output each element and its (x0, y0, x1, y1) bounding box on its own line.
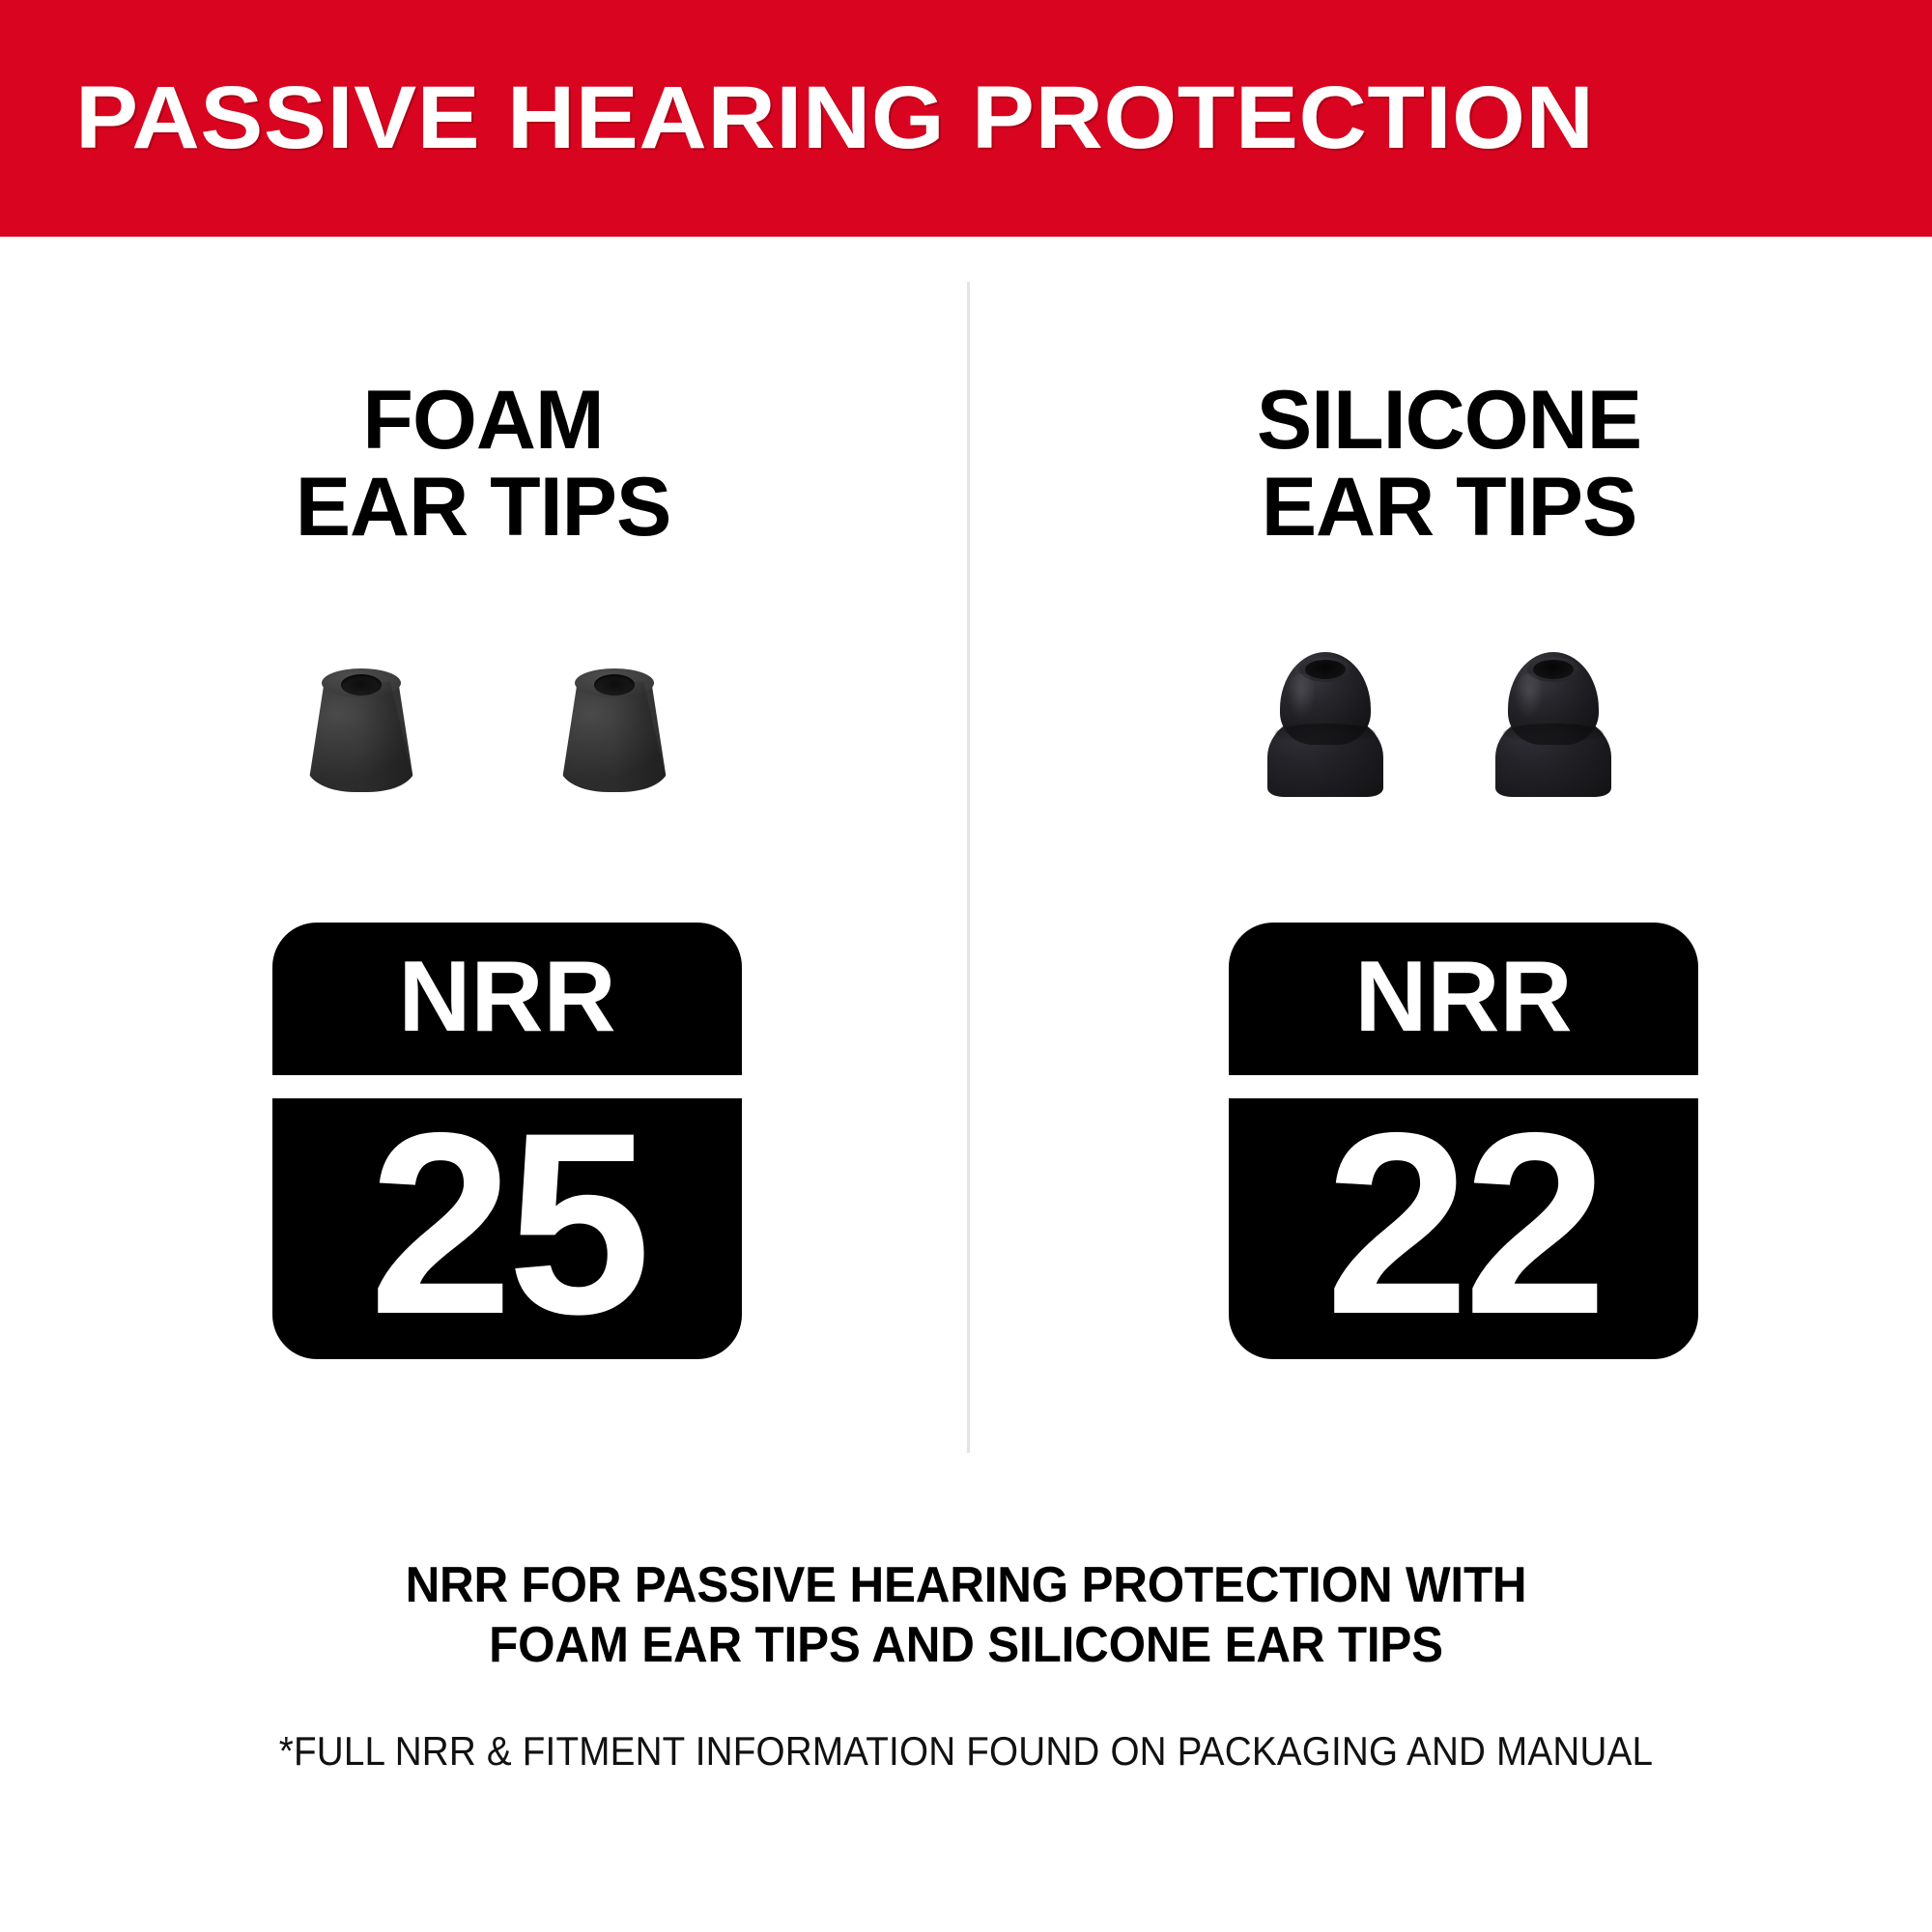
caption-line-2: FOAM EAR TIPS AND SILICONE EAR TIPS (48, 1615, 1884, 1675)
silicone-tip-bore (1305, 660, 1346, 679)
foam-tip-shading (614, 682, 668, 790)
page-title: PASSIVE HEARING PROTECTION (75, 70, 1932, 166)
foam-heading-line1: FOAM (362, 374, 603, 467)
infographic-page: PASSIVE HEARING PROTECTION FOAM EAR TIPS (0, 0, 1932, 1932)
foam-column-heading: FOAM EAR TIPS (0, 377, 966, 551)
foam-tips-row (0, 623, 966, 836)
foam-ear-tip-icon (560, 667, 668, 792)
footnote-text: *FULL NRR & FITMENT INFORMATION FOUND ON… (77, 1727, 1855, 1776)
caption-line-1: NRR FOR PASSIVE HEARING PROTECTION WITH (48, 1555, 1884, 1615)
foam-heading-line2: EAR TIPS (0, 464, 966, 551)
silicone-tip-crease (1503, 724, 1604, 743)
silicone-tip-crease (1275, 724, 1376, 743)
silicone-ear-tip-icon (1267, 652, 1383, 797)
silicone-nrr-badge: NRR 22 (1229, 923, 1698, 1359)
foam-column: FOAM EAR TIPS NRR 25 (0, 237, 966, 1492)
caption-block: NRR FOR PASSIVE HEARING PROTECTION WITH … (48, 1555, 1884, 1675)
silicone-nrr-label: NRR (1229, 944, 1698, 1050)
foam-tip-shading (361, 682, 415, 790)
foam-nrr-value: 25 (272, 1089, 742, 1357)
foam-nrr-badge: NRR 25 (272, 923, 742, 1359)
silicone-heading-line2: EAR TIPS (966, 464, 1932, 551)
header-banner: PASSIVE HEARING PROTECTION (0, 0, 1932, 237)
foam-ear-tip-icon (307, 667, 415, 792)
silicone-ear-tip-icon (1495, 652, 1611, 797)
silicone-nrr-value: 22 (1229, 1089, 1698, 1357)
silicone-column-heading: SILICONE EAR TIPS (966, 377, 1932, 551)
silicone-tip-highlight (1515, 673, 1544, 718)
silicone-heading-line1: SILICONE (1257, 374, 1641, 467)
foam-nrr-label: NRR (272, 944, 742, 1050)
silicone-column: SILICONE EAR TIPS NRR (966, 237, 1932, 1492)
silicone-tip-bore (1533, 660, 1574, 679)
silicone-tip-highlight (1287, 673, 1316, 718)
silicone-tips-row (966, 623, 1932, 836)
